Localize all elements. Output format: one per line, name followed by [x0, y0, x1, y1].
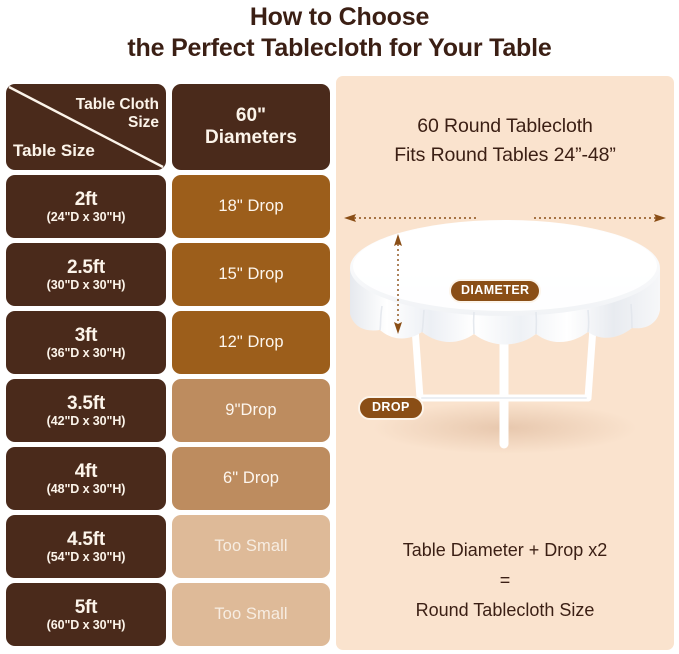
table-row: 2ft(24"D x 30"H)18" Drop [6, 175, 330, 238]
drop-value-cell: Too Small [172, 583, 330, 646]
table-rows-container: 2ft(24"D x 30"H)18" Drop2.5ft(30"D x 30"… [6, 175, 330, 646]
drop-value-cell: 15" Drop [172, 243, 330, 306]
drop-label-pill: DROP [358, 396, 424, 420]
table-graphic-icon [336, 206, 674, 506]
table-cloth-size-label: Table Cloth Size [43, 96, 159, 132]
page-title: How to Choose the Perfect Tablecloth for… [0, 2, 679, 64]
table-row: 4.5ft(54"D x 30"H)Too Small [6, 515, 330, 578]
drop-value-cell: Too Small [172, 515, 330, 578]
table-size-dimensions: (24"D x 30"H) [47, 210, 126, 225]
table-header-row: Table Cloth Size Table Size 60" Diameter… [6, 84, 330, 170]
size-comparison-table: Table Cloth Size Table Size 60" Diameter… [6, 84, 330, 646]
column-header-line-1: 60" [236, 105, 266, 127]
drop-value-cell: 12" Drop [172, 311, 330, 374]
formula-line-2: = [336, 565, 674, 595]
table-size-dimensions: (30"D x 30"H) [47, 278, 126, 293]
drop-value-cell: 18" Drop [172, 175, 330, 238]
formula-block: Table Diameter + Drop x2 = Round Tablecl… [336, 535, 674, 625]
drop-value-cell: 9"Drop [172, 379, 330, 442]
table-size-value: 5ft [75, 597, 98, 618]
table-row: 5ft(60"D x 30"H)Too Small [6, 583, 330, 646]
table-size-value: 4.5ft [67, 529, 105, 550]
panel-heading: 60 Round Tablecloth Fits Round Tables 24… [336, 112, 674, 170]
panel-heading-line-2: Fits Round Tables 24”-48” [336, 141, 674, 170]
infographic-page: How to Choose the Perfect Tablecloth for… [0, 0, 679, 654]
illustration-panel: 60 Round Tablecloth Fits Round Tables 24… [336, 76, 674, 650]
table-size-value: 3ft [75, 325, 98, 346]
table-size-value: 2.5ft [67, 257, 105, 278]
table-size-dimensions: (60"D x 30"H) [47, 618, 126, 633]
table-size-cell: 4.5ft(54"D x 30"H) [6, 515, 166, 578]
table-row: 3ft(36"D x 30"H)12" Drop [6, 311, 330, 374]
round-table-illustration: DIAMETER DROP [336, 206, 674, 506]
formula-line-1: Table Diameter + Drop x2 [336, 535, 674, 565]
table-size-cell: 3.5ft(42"D x 30"H) [6, 379, 166, 442]
title-line-1: How to Choose [0, 2, 679, 33]
formula-line-3: Round Tablecloth Size [336, 595, 674, 625]
table-row: 4ft(48"D x 30"H)6" Drop [6, 447, 330, 510]
table-size-value: 3.5ft [67, 393, 105, 414]
table-row: 2.5ft(30"D x 30"H)15" Drop [6, 243, 330, 306]
panel-heading-line-1: 60 Round Tablecloth [336, 112, 674, 141]
drop-value: 6" Drop [223, 469, 279, 488]
table-corner-header: Table Cloth Size Table Size [6, 84, 166, 170]
title-line-2: the Perfect Tablecloth for Your Table [0, 33, 679, 64]
column-header-line-2: Diameters [205, 127, 297, 149]
table-size-cell: 5ft(60"D x 30"H) [6, 583, 166, 646]
table-size-cell: 4ft(48"D x 30"H) [6, 447, 166, 510]
column-header-diameter: 60" Diameters [172, 84, 330, 170]
table-size-dimensions: (54"D x 30"H) [47, 550, 126, 565]
drop-value-cell: 6" Drop [172, 447, 330, 510]
table-size-value: 4ft [75, 461, 98, 482]
table-row: 3.5ft(42"D x 30"H)9"Drop [6, 379, 330, 442]
table-size-dimensions: (48"D x 30"H) [47, 482, 126, 497]
table-size-value: 2ft [75, 189, 98, 210]
diameter-label-pill: DIAMETER [449, 279, 541, 303]
drop-value: Too Small [214, 537, 287, 556]
table-size-cell: 3ft(36"D x 30"H) [6, 311, 166, 374]
table-size-dimensions: (42"D x 30"H) [47, 414, 126, 429]
drop-value: 12" Drop [218, 333, 283, 352]
table-size-cell: 2.5ft(30"D x 30"H) [6, 243, 166, 306]
drop-value: 9"Drop [225, 401, 276, 420]
drop-value: 18" Drop [218, 197, 283, 216]
table-size-label: Table Size [13, 141, 95, 160]
drop-value: 15" Drop [218, 265, 283, 284]
table-size-cell: 2ft(24"D x 30"H) [6, 175, 166, 238]
drop-value: Too Small [214, 605, 287, 624]
table-size-dimensions: (36"D x 30"H) [47, 346, 126, 361]
